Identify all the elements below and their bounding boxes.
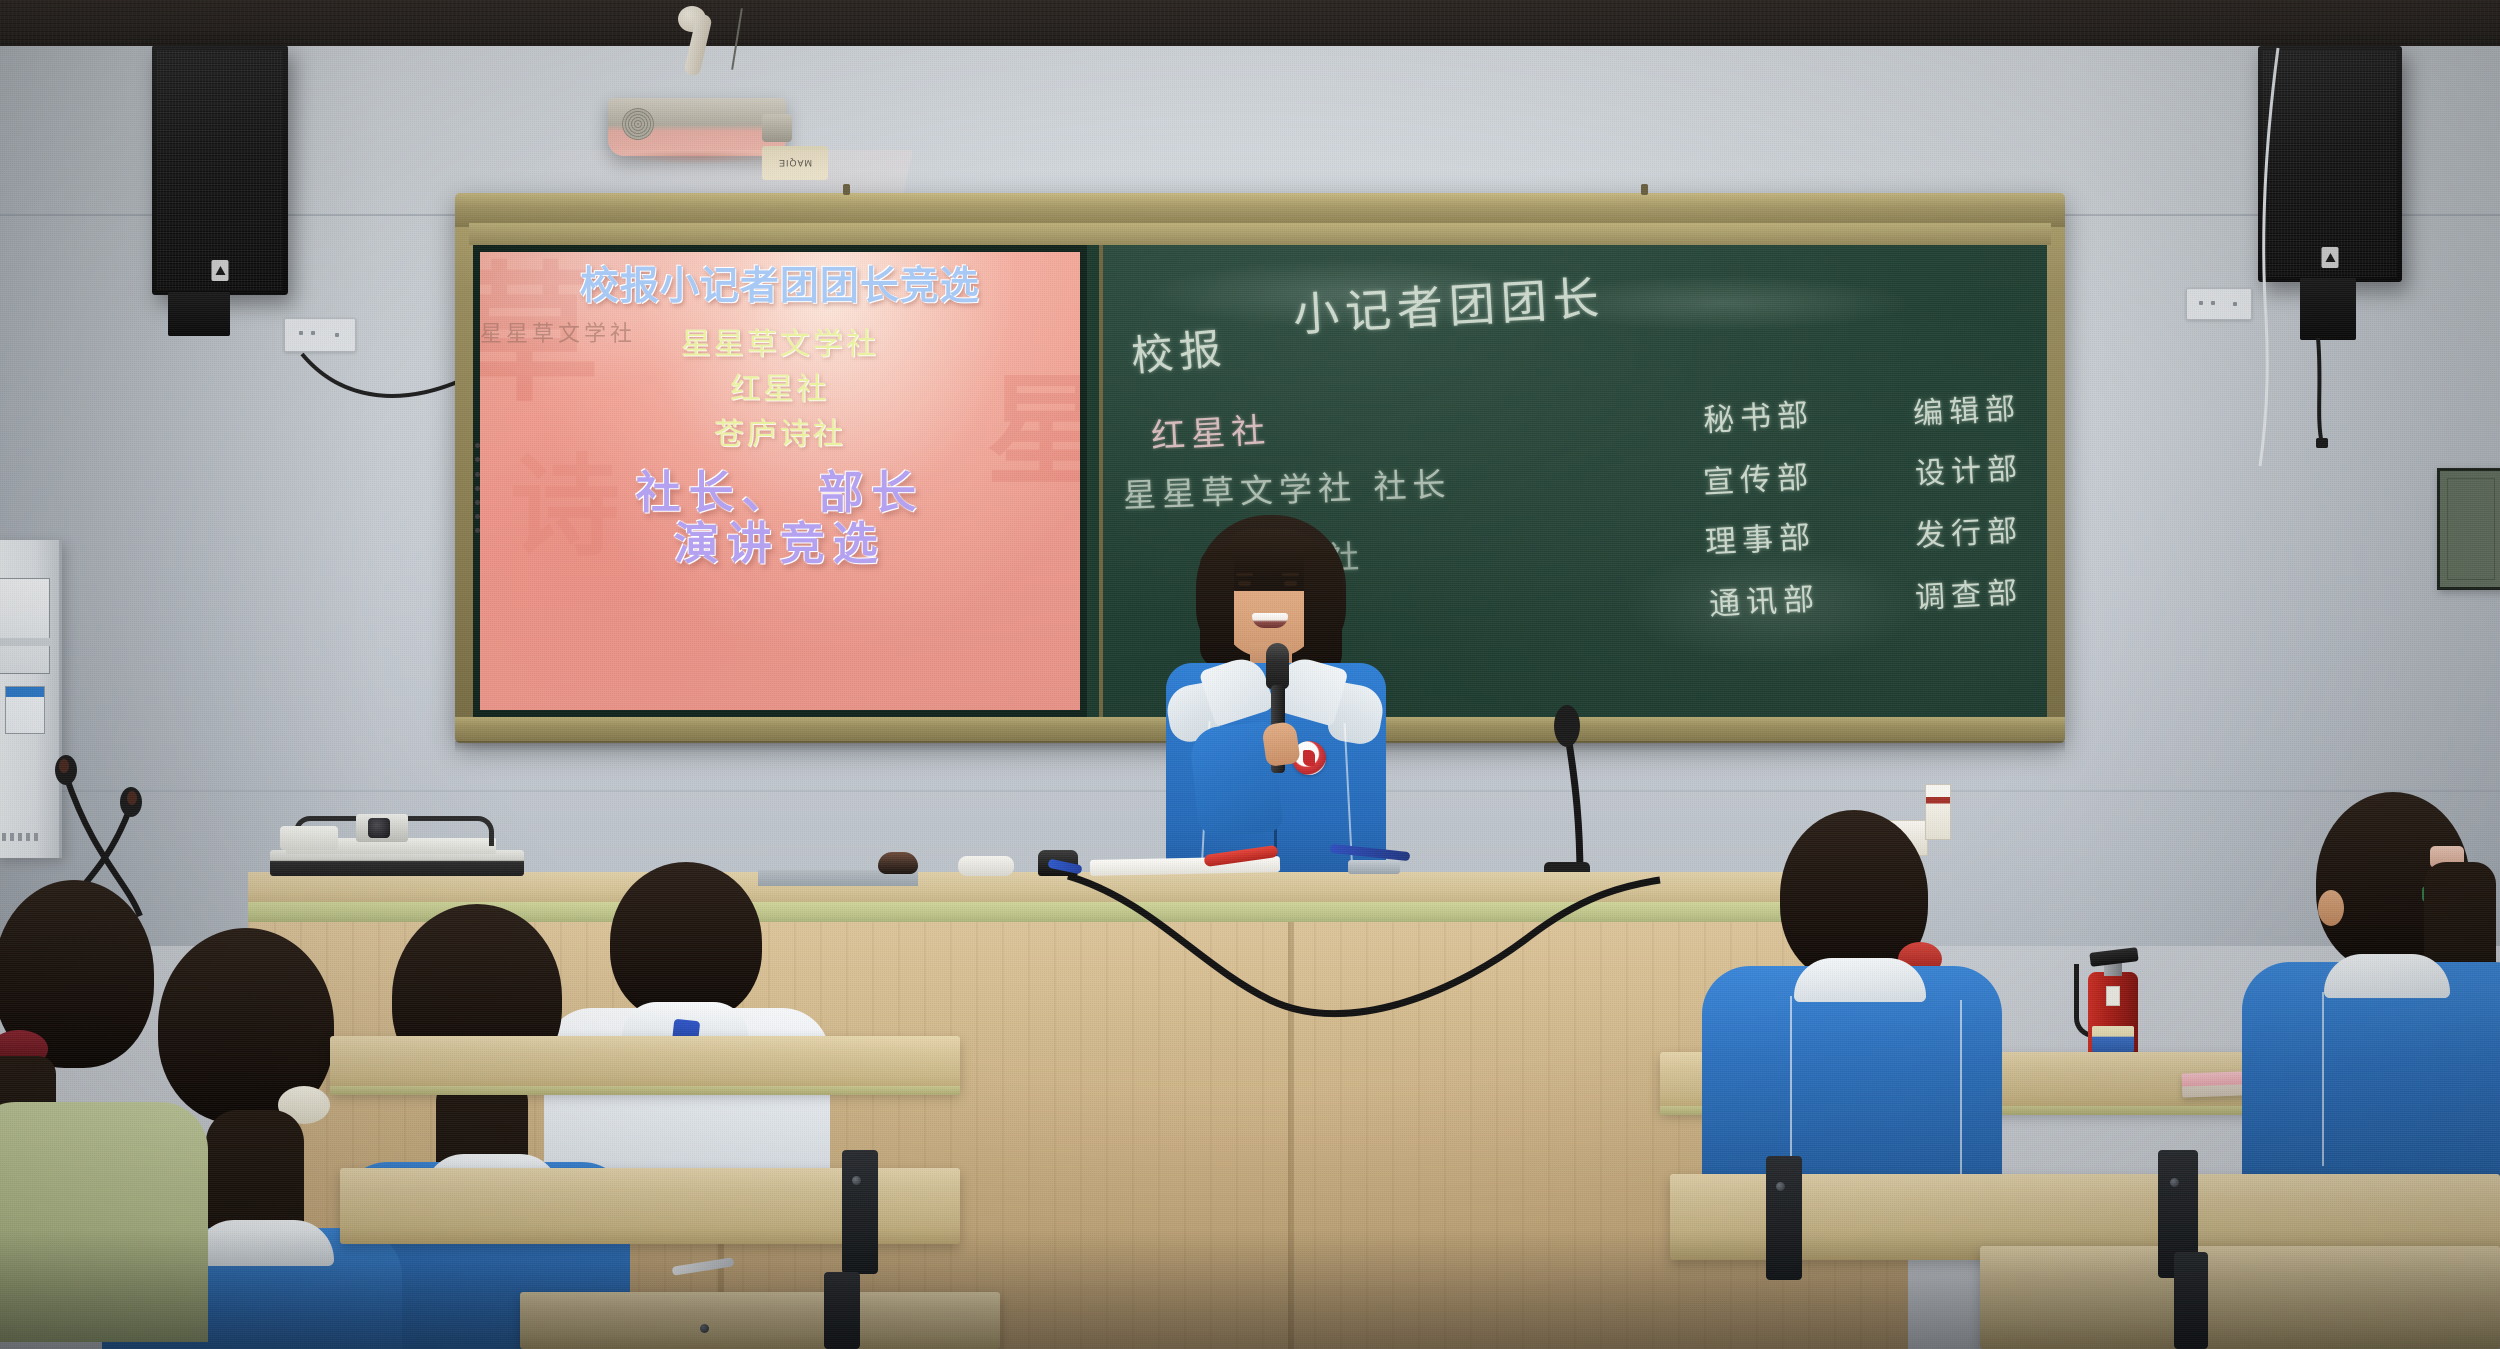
chalk-mid-item-4: 通讯部	[1708, 573, 1821, 624]
projector-vent	[622, 108, 654, 140]
document-camera[interactable]	[270, 814, 524, 876]
student-desk-left-back-edge	[330, 1086, 960, 1095]
student-head	[610, 862, 762, 1022]
desk-bracket-left-a	[842, 1150, 878, 1274]
wall-notice-frame	[2437, 468, 2500, 590]
projection-screen-pane: 草 星 诗 校报小记者团团长竞选 星星草文学社 星星草文学社 红星社 苍庐诗社 …	[473, 245, 1087, 717]
student-ear	[2318, 890, 2344, 926]
presenter-brow-left	[1236, 573, 1253, 576]
equipment-divider-bar	[0, 638, 50, 646]
desk-object-white-case[interactable]	[958, 856, 1014, 876]
student-uniform-piping	[1790, 996, 1792, 1176]
classroom-photo-scene: MAQIE	[0, 0, 2500, 1349]
chalk-mid-item-3: 理事部	[1704, 511, 1817, 562]
ceiling-band	[0, 0, 2500, 46]
presenter-eye-left	[1238, 581, 1251, 586]
wall-speaker-left	[152, 45, 288, 295]
board-top-rail-secondary	[469, 223, 2051, 245]
presenter-eye-right	[1284, 581, 1297, 586]
chalk-carton-tall[interactable]	[1925, 784, 1951, 840]
projector-lens	[762, 114, 792, 142]
chalk-mid-item-1: 秘书部	[1702, 389, 1815, 440]
board-screw	[843, 184, 850, 195]
presenter-student-speaker	[1152, 515, 1402, 895]
presenter-hair-side-right	[1304, 549, 1342, 675]
desk-bolt	[852, 1176, 861, 1185]
slide-club-2: 红星社	[480, 374, 1080, 406]
chalk-right-item-4: 调查部	[1914, 567, 2024, 617]
speaker-bracket-right	[2300, 278, 2356, 340]
equipment-monitor-screen	[0, 578, 50, 674]
desk-bolt	[1776, 1182, 1785, 1191]
student-collar	[2324, 954, 2450, 998]
presenter-smile	[1252, 613, 1288, 628]
desk-object-mouse[interactable]	[878, 852, 918, 874]
speaker-brand-badge	[212, 260, 229, 281]
desk-bolt	[2170, 1178, 2179, 1187]
extinguisher-handle	[2089, 947, 2138, 967]
projector-body	[608, 98, 786, 156]
student-uniform-piping	[1960, 1000, 1962, 1176]
wall-outlet-left[interactable]	[284, 318, 356, 352]
slide-title: 校报小记者团团长竞选	[480, 266, 1080, 307]
slide-roles-line: 社长、 部长	[480, 469, 1080, 517]
slide-club-3: 苍庐诗社	[480, 419, 1080, 451]
presentation-slide: 草 星 诗 校报小记者团团长竞选 星星草文学社 星星草文学社 红星社 苍庐诗社 …	[480, 252, 1080, 710]
chalk-right-item-2: 设计部	[1914, 443, 2024, 493]
student-desk-left-back	[330, 1036, 960, 1092]
student-collar	[1794, 958, 1926, 1002]
fire-extinguisher	[2084, 946, 2142, 1064]
microphone-head-icon	[1266, 643, 1289, 689]
student-desk-left-front	[520, 1292, 1000, 1349]
student-collar	[194, 1220, 334, 1266]
presenter-brow-right	[1282, 573, 1299, 576]
student-uniform-piping	[2322, 992, 2324, 1166]
board-screw	[1641, 184, 1648, 195]
microphone-cable	[1060, 870, 1680, 1060]
presenter-hair-side-left	[1200, 549, 1234, 667]
chalk-left-item-2: 星星草文学社 社长	[1123, 458, 1453, 517]
gooseneck-microphone-podium[interactable]	[1526, 686, 1616, 882]
slide-event-line: 演讲竞选	[480, 520, 1080, 568]
camera-lens-icon	[368, 818, 390, 838]
student-uniform-shoulders	[0, 1102, 208, 1342]
speaker-bracket-left	[168, 292, 230, 336]
document-camera-roller	[280, 826, 338, 850]
chalk-left-item-1: 红星社	[1150, 403, 1272, 458]
extinguisher-inspection-tag	[2106, 986, 2120, 1006]
projector-brand-label: MAQIE	[762, 146, 828, 180]
chalk-right-item-1: 编辑部	[1912, 383, 2022, 433]
slide-club-1: 星星草文学社	[480, 329, 1080, 361]
cable-right-speaker	[2236, 48, 2306, 468]
chalk-heading-left: 校报	[1129, 315, 1230, 384]
desk-bolt	[700, 1324, 709, 1333]
equipment-blue-label	[5, 686, 45, 734]
ceiling-mesh-texture	[0, 0, 2500, 46]
student-desk-right-front2	[1980, 1246, 2500, 1349]
speaker-grill	[157, 50, 283, 290]
desk-bracket-left-b	[824, 1272, 860, 1349]
speaker-brand-badge	[2322, 247, 2339, 268]
chalk-mid-item-2: 宣传部	[1702, 451, 1815, 502]
chalk-right-item-3: 发行部	[1914, 505, 2024, 555]
desk-bracket-right-a	[1766, 1156, 1802, 1280]
extinguisher-label	[2092, 1026, 2134, 1052]
projector-underglow	[620, 150, 775, 164]
cable-right-mic-drop	[2300, 338, 2340, 450]
equipment-buttons[interactable]	[2, 832, 50, 842]
desk-bracket-right-c	[2174, 1252, 2208, 1349]
board-top-rail	[455, 193, 2065, 227]
